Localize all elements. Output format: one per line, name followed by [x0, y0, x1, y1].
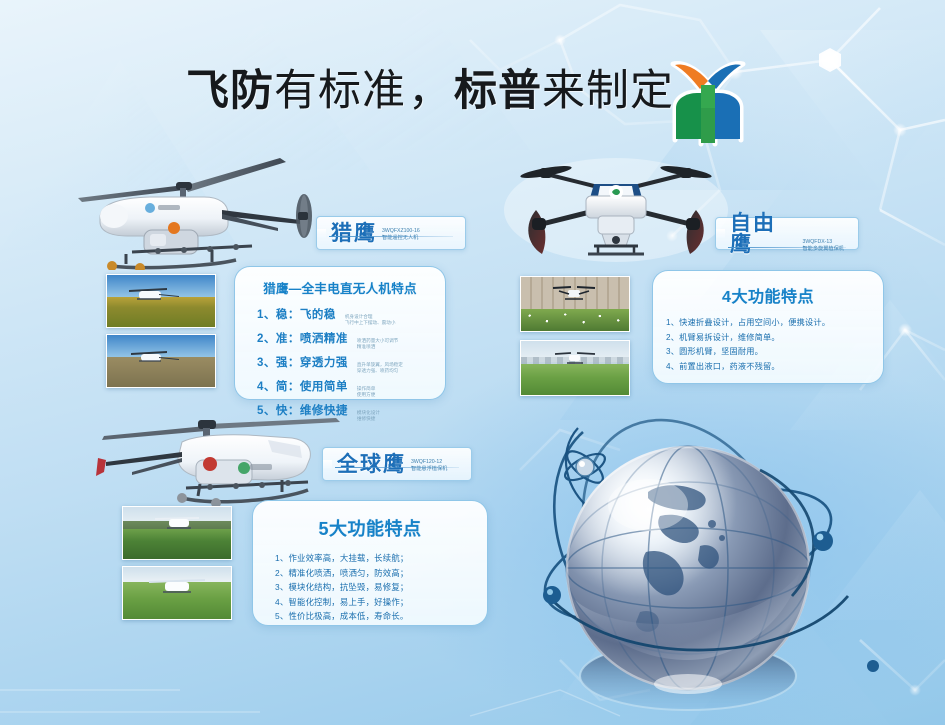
photo-drone-silhouette	[127, 283, 187, 305]
feature-item: 4、前置出液口，药液不残留。	[666, 360, 883, 372]
product-name-quanqiuying: 全球鹰	[337, 454, 406, 475]
feature-box-title-ziyouying: 4大功能特点	[653, 283, 883, 307]
feature-item: 3、强：穿透力强 直升单旋翼，风场稳定 穿透力强、喷药均匀	[257, 354, 445, 374]
feature-item: 3、模块化结构，抗坠毁，易修复；	[275, 581, 487, 593]
photo-quanqiuying-green-field	[122, 566, 232, 620]
title-part-1: 飞防	[186, 67, 274, 115]
chrome-globe-with-orbit-rings	[531, 383, 879, 710]
feature-item: 4、智能化控制，易上手，好操作；	[275, 596, 487, 608]
photo-quanqiuying-terrace-field	[122, 506, 232, 560]
feature-box-title-lieying: 猎鹰—全丰电直无人机特点	[235, 278, 445, 297]
poster-canvas: 飞防有标准，标普来制定	[0, 0, 945, 725]
atom-motif	[561, 428, 608, 510]
photo-ziyouying-orchard-building	[520, 276, 630, 332]
feature-item: 2、精准化喷洒，喷洒匀，防效高；	[275, 567, 487, 579]
title-part-4: 标普	[454, 67, 542, 115]
feature-note: 模块化设计 维修快捷	[357, 410, 380, 422]
product-name-lieying: 猎鹰	[331, 223, 377, 244]
feature-note: 机身设计合理 飞行中上下摆动、震动小	[345, 314, 396, 326]
feature-list-quanqiuying: 1、作业效率高，大挂载，长续航； 2、精准化喷洒，喷洒匀，防效高； 3、模块化结…	[275, 552, 487, 622]
page-title: 飞防有标准，标普来制定	[186, 62, 674, 120]
product-label-quanqiuying[interactable]: 全球鹰 3WQF120-12 智能悬浮植保机	[322, 447, 472, 481]
photo-drone-silhouette	[553, 349, 597, 369]
photo-drone-silhouette	[551, 283, 597, 305]
feature-note: 操作简单 使用方便	[357, 386, 375, 398]
feature-note: 喷洒药量大小可调节 精准喷洒	[357, 338, 398, 350]
feature-box-title-quanqiuying: 5大功能特点	[253, 515, 487, 541]
photo-drone-silhouette	[153, 513, 205, 533]
feature-item: 5、快：维修快捷 模块化设计 维修快捷	[257, 402, 445, 422]
feature-item: 1、快速折叠设计，占用空间小，便携设计。	[666, 316, 883, 328]
photo-drone-silhouette	[129, 347, 187, 367]
product-label-lieying[interactable]: 猎鹰 3WQFXZ100-16 智能遥控无人机	[316, 216, 466, 250]
title-part-2: 有标准	[274, 67, 406, 115]
feature-item: 2、准：喷洒精准 喷洒药量大小可调节 精准喷洒	[257, 330, 445, 350]
feature-item: 4、简：使用简单 操作简单 使用方便	[257, 378, 445, 398]
photo-drone-silhouette	[147, 575, 211, 597]
feature-list-lieying: 1、稳：飞的稳 机身设计合理 飞行中上下摆动、震动小 2、准：喷洒精准 喷洒药量…	[257, 306, 445, 422]
feature-item: 1、作业效率高，大挂载，长续航；	[275, 552, 487, 564]
feature-list-ziyouying: 1、快速折叠设计，占用空间小，便携设计。 2、机臂易拆设计，维修简单。 3、圆形…	[666, 316, 883, 372]
photo-ziyouying-paddy-field	[520, 340, 630, 396]
photo-lieying-rapeseed-field	[106, 274, 216, 328]
feature-note: 直升单旋翼，风场稳定 穿透力强、喷药均匀	[357, 362, 403, 374]
product-name-ziyouying: 自由鹰	[730, 213, 797, 255]
lieying-helicopter-drone	[72, 142, 372, 270]
pill-underline	[329, 236, 453, 237]
biaopu-sprout-logo	[645, 48, 771, 148]
feature-item: 3、圆形机臂，坚固耐用。	[666, 345, 883, 357]
title-part-3: ，	[406, 67, 454, 115]
feature-box-quanqiuying: 5大功能特点 1、作业效率高，大挂载，长续航； 2、精准化喷洒，喷洒匀，防效高；…	[252, 500, 488, 626]
pill-underline	[335, 467, 459, 468]
title-row: 飞防有标准，标普来制定	[0, 62, 945, 154]
pill-underline	[728, 247, 846, 248]
photo-lieying-open-field	[106, 334, 216, 388]
feature-item: 2、机臂易拆设计，维修简单。	[666, 331, 883, 343]
feature-item: 5、性价比极高，成本低，寿命长。	[275, 610, 487, 622]
ziyouying-quadcopter-drone	[502, 148, 730, 264]
feature-box-lieying: 猎鹰—全丰电直无人机特点 1、稳：飞的稳 机身设计合理 飞行中上下摆动、震动小 …	[234, 266, 446, 400]
feature-item: 1、稳：飞的稳 机身设计合理 飞行中上下摆动、震动小	[257, 306, 445, 326]
product-label-ziyouying[interactable]: 自由鹰 3WQFDX-13 智能多旋翼植保机	[715, 217, 859, 250]
feature-box-ziyouying: 4大功能特点 1、快速折叠设计，占用空间小，便携设计。 2、机臂易拆设计，维修简…	[652, 270, 884, 384]
